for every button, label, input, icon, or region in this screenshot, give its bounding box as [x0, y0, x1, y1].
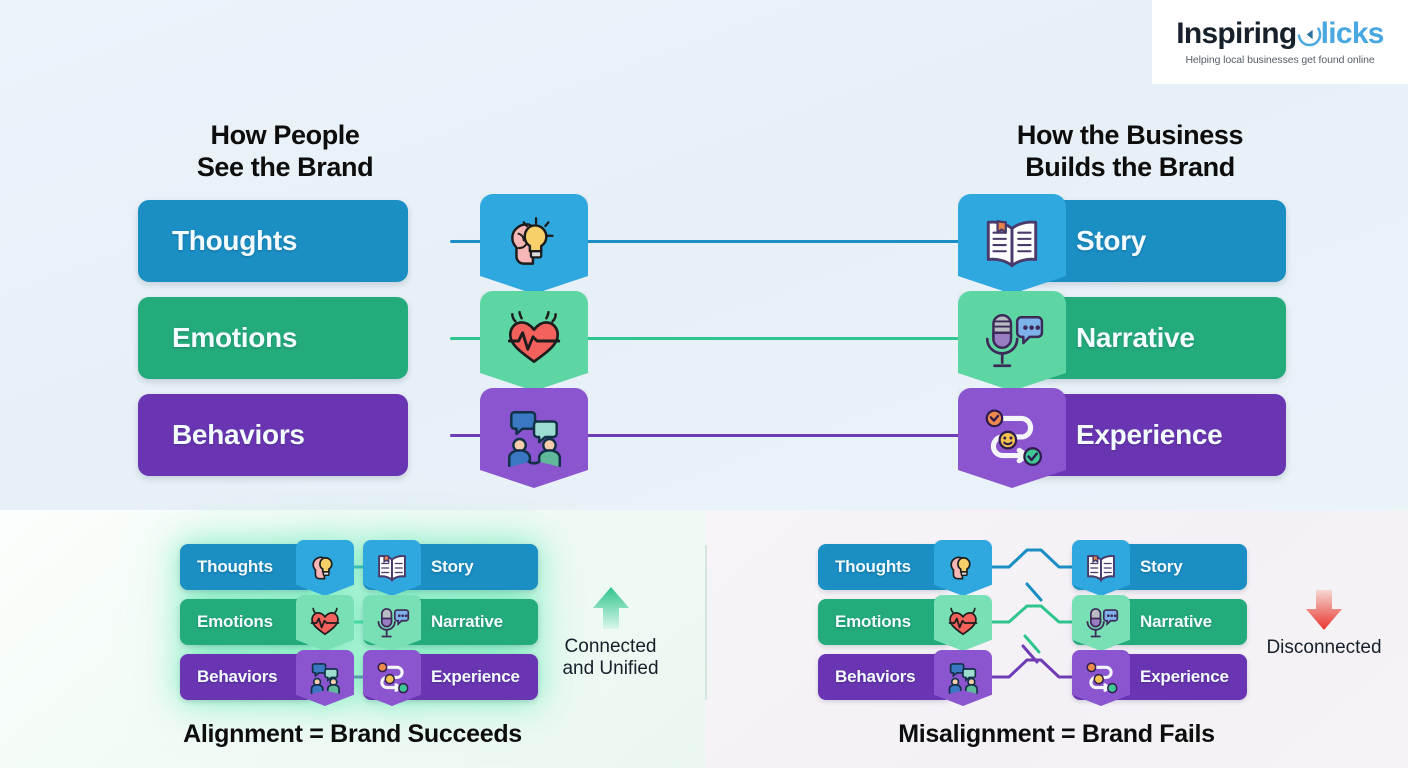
open-book-icon	[363, 540, 421, 596]
misalignment-panel: Thoughts Emotions	[705, 510, 1408, 768]
mini-bar-label: Experience	[1140, 667, 1229, 687]
mini-bar-label: Experience	[431, 667, 520, 687]
left-bar-label: Emotions	[172, 322, 297, 354]
panel-divider	[705, 545, 707, 700]
mini-bar-label: Behaviors	[197, 667, 277, 687]
left-bar-emotions[interactable]: Emotions	[138, 297, 408, 379]
heartbeat-icon	[296, 595, 354, 651]
misalignment-verdict: Disconnected	[1240, 588, 1408, 659]
mini-row-experience[interactable]: Experience	[1072, 654, 1247, 700]
arrow-down-icon	[1240, 588, 1408, 632]
arrow-up-icon	[533, 585, 688, 631]
brand-logo: Inspiring licks Helping local businesses…	[1152, 0, 1408, 84]
clicks-c-mark-icon	[1297, 22, 1322, 47]
open-book-icon	[958, 194, 1066, 294]
microphone-speech-icon	[363, 595, 421, 651]
mini-bar-behaviors[interactable]: Behaviors	[180, 654, 314, 700]
logo-word-dark: Inspiring	[1176, 17, 1296, 50]
mini-row-emotions[interactable]: Emotions	[818, 599, 983, 645]
mini-row-experience[interactable]: Experience	[363, 654, 538, 700]
heartbeat-icon	[480, 291, 588, 391]
left-row-emotions[interactable]: Emotions	[138, 297, 450, 379]
journey-flow-icon	[363, 650, 421, 706]
mini-bar-label: Emotions	[197, 612, 273, 632]
left-bar-label: Thoughts	[172, 225, 297, 257]
mini-bar-label: Behaviors	[835, 667, 915, 687]
right-column-heading: How the Business Builds the Brand	[980, 120, 1280, 184]
logo-wordmark: Inspiring licks	[1176, 19, 1384, 49]
mini-row-thoughts[interactable]: Thoughts	[180, 544, 345, 590]
mini-bar-thoughts[interactable]: Thoughts	[818, 544, 952, 590]
alignment-panel: Thoughts Emotions	[0, 510, 705, 768]
mini-bar-label: Story	[431, 557, 473, 577]
alignment-verdict-text: Connected and Unified	[533, 636, 688, 680]
left-column-heading: How People See the Brand	[135, 120, 435, 184]
brain-lightbulb-icon	[934, 540, 992, 596]
mini-bar-thoughts[interactable]: Thoughts	[180, 544, 314, 590]
left-bar-thoughts[interactable]: Thoughts	[138, 200, 408, 282]
mini-row-story[interactable]: Story	[363, 544, 538, 590]
logo-word-light: licks	[1321, 17, 1384, 50]
left-row-thoughts[interactable]: Thoughts	[138, 200, 450, 282]
alignment-caption: Alignment = Brand Succeeds	[0, 720, 705, 749]
right-row-story[interactable]: Story	[958, 200, 1286, 282]
logo-tagline: Helping local businesses get found onlin…	[1185, 54, 1374, 66]
mini-bar-emotions[interactable]: Emotions	[180, 599, 314, 645]
mini-row-narrative[interactable]: Narrative	[363, 599, 538, 645]
people-talking-icon	[296, 650, 354, 706]
heartbeat-icon	[934, 595, 992, 651]
mini-row-thoughts[interactable]: Thoughts	[818, 544, 983, 590]
top-section: Inspiring licks Helping local businesses…	[0, 0, 1408, 510]
people-talking-icon	[934, 650, 992, 706]
right-bar-label: Experience	[1076, 419, 1222, 451]
mini-bar-label: Emotions	[835, 612, 911, 632]
mini-row-behaviors[interactable]: Behaviors	[818, 654, 983, 700]
alignment-verdict: Connected and Unified	[533, 585, 688, 680]
right-bar-label: Story	[1076, 225, 1146, 257]
mini-row-narrative[interactable]: Narrative	[1072, 599, 1247, 645]
people-talking-icon	[480, 388, 588, 488]
misalignment-caption: Misalignment = Brand Fails	[705, 720, 1408, 749]
mini-bar-label: Thoughts	[835, 557, 911, 577]
left-bar-label: Behaviors	[172, 419, 305, 451]
right-bar-label: Narrative	[1076, 322, 1195, 354]
mini-row-story[interactable]: Story	[1072, 544, 1247, 590]
microphone-speech-icon	[958, 291, 1066, 391]
mini-bar-behaviors[interactable]: Behaviors	[818, 654, 952, 700]
journey-flow-icon	[1072, 650, 1130, 706]
mini-row-emotions[interactable]: Emotions	[180, 599, 345, 645]
mini-bar-label: Story	[1140, 557, 1182, 577]
left-row-behaviors[interactable]: Behaviors	[138, 394, 450, 476]
right-row-experience[interactable]: Experience	[958, 394, 1286, 476]
mini-bar-emotions[interactable]: Emotions	[818, 599, 952, 645]
bottom-section: Thoughts Emotions	[0, 510, 1408, 768]
mini-bar-label: Thoughts	[197, 557, 273, 577]
microphone-speech-icon	[1072, 595, 1130, 651]
mini-row-behaviors[interactable]: Behaviors	[180, 654, 345, 700]
mini-bar-label: Narrative	[1140, 612, 1212, 632]
right-row-narrative[interactable]: Narrative	[958, 297, 1286, 379]
infographic-canvas: Inspiring licks Helping local businesses…	[0, 0, 1408, 768]
misalignment-verdict-text: Disconnected	[1240, 637, 1408, 659]
journey-flow-icon	[958, 388, 1066, 488]
left-bar-behaviors[interactable]: Behaviors	[138, 394, 408, 476]
open-book-icon	[1072, 540, 1130, 596]
brain-lightbulb-icon	[296, 540, 354, 596]
mini-bar-label: Narrative	[431, 612, 503, 632]
brain-lightbulb-icon	[480, 194, 588, 294]
